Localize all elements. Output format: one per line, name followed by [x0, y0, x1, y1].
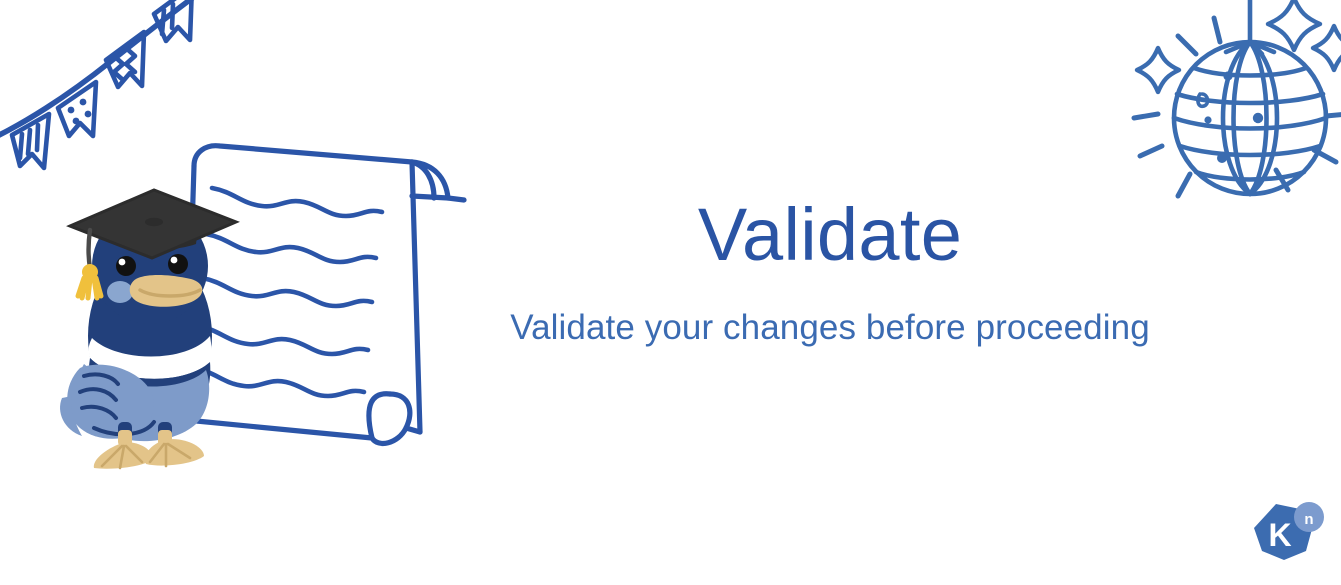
- logo-badge-circle: [1294, 502, 1324, 532]
- scroll-document-doodle: [176, 136, 468, 466]
- logo-heptagon-shape: [1254, 504, 1312, 560]
- logo-primary-letter: K: [1268, 517, 1291, 553]
- page-title: Validate: [460, 196, 1200, 274]
- hero-text-block: Validate Validate your changes before pr…: [460, 196, 1200, 349]
- brand-logo: K n: [1246, 500, 1328, 570]
- party-bunting-flags: [0, 0, 224, 180]
- page-subtitle: Validate your changes before proceeding: [460, 308, 1200, 348]
- disco-ball-doodle: [1122, 0, 1341, 228]
- logo-badge-letter: n: [1304, 511, 1313, 528]
- slide-canvas: Validate Validate your changes before pr…: [0, 0, 1341, 585]
- graduate-duck-mascot: [54, 186, 244, 472]
